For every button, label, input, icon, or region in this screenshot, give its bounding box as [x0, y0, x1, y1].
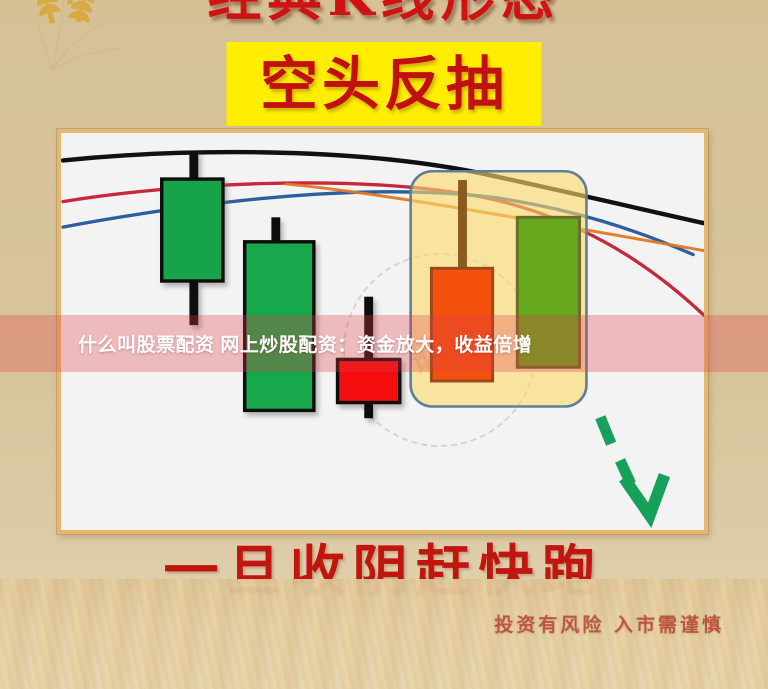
article-caption-text: 什么叫股票配资 网上炒股配资：资金放大，收益倍增: [78, 330, 532, 357]
pattern-title-text: 空头反抽: [260, 55, 508, 113]
candle-1-green: [162, 151, 223, 325]
pattern-title-banner: 空头反抽: [227, 42, 542, 126]
risk-disclaimer-text: 投资有风险 入市需谨慎: [494, 610, 724, 637]
poster-background: 经典K线形态 空头反抽 论股: [0, 0, 768, 689]
moving-average-lines: [63, 152, 704, 315]
poster-headline: 经典K线形态: [0, 0, 768, 26]
candle-2-green: [245, 217, 314, 410]
down-trend-arrow: [600, 417, 664, 515]
article-caption-overlay: 什么叫股票配资 网上炒股配资：资金放大，收益倍增: [0, 315, 768, 372]
